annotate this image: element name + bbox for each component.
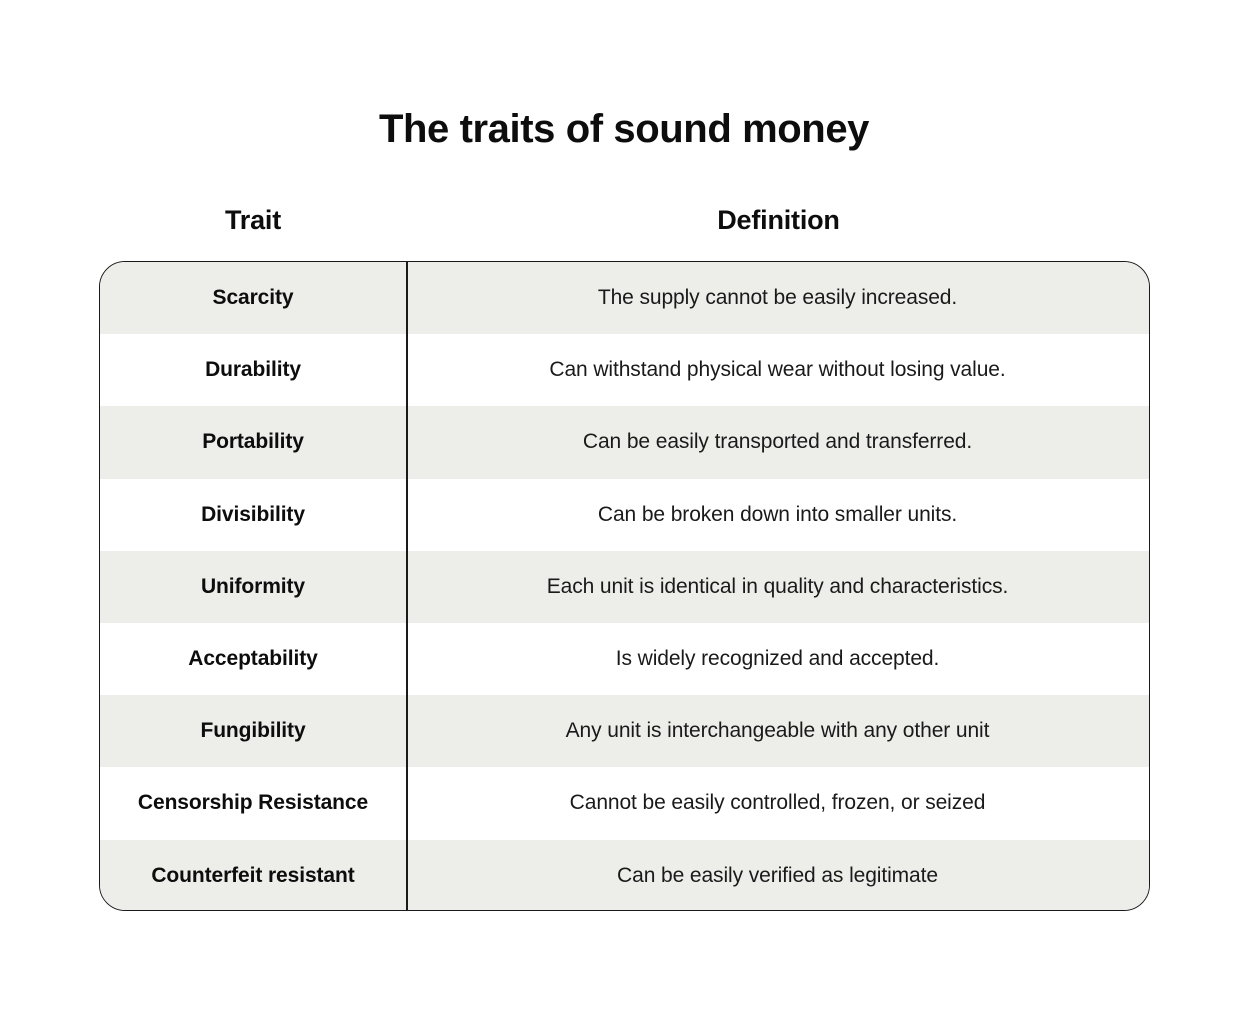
traits-table: ScarcityThe supply cannot be easily incr… (99, 261, 1150, 911)
cell-definition: Cannot be easily controlled, frozen, or … (406, 767, 1149, 839)
cell-trait: Scarcity (100, 262, 406, 334)
column-header-trait: Trait (99, 198, 407, 242)
cell-definition: Each unit is identical in quality and ch… (406, 551, 1149, 623)
table-row: PortabilityCan be easily transported and… (100, 406, 1149, 478)
table-body: ScarcityThe supply cannot be easily incr… (100, 262, 1149, 910)
cell-trait: Uniformity (100, 551, 406, 623)
cell-trait: Censorship Resistance (100, 767, 406, 839)
cell-trait: Fungibility (100, 695, 406, 767)
cell-definition: Any unit is interchangeable with any oth… (406, 695, 1149, 767)
cell-definition: Can be easily transported and transferre… (406, 406, 1149, 478)
page-root: The traits of sound money Trait Definiti… (0, 0, 1248, 1012)
cell-trait: Acceptability (100, 623, 406, 695)
cell-definition: Can be broken down into smaller units. (406, 479, 1149, 551)
table-row: UniformityEach unit is identical in qual… (100, 551, 1149, 623)
cell-trait: Counterfeit resistant (100, 840, 406, 912)
column-headers: Trait Definition (99, 198, 1150, 242)
table-row: DurabilityCan withstand physical wear wi… (100, 334, 1149, 406)
table-row: ScarcityThe supply cannot be easily incr… (100, 262, 1149, 334)
table-row: Censorship ResistanceCannot be easily co… (100, 767, 1149, 839)
column-divider (406, 262, 408, 910)
table-row: FungibilityAny unit is interchangeable w… (100, 695, 1149, 767)
cell-trait: Divisibility (100, 479, 406, 551)
table-row: Counterfeit resistantCan be easily verif… (100, 840, 1149, 912)
page-title: The traits of sound money (0, 100, 1248, 158)
table-row: DivisibilityCan be broken down into smal… (100, 479, 1149, 551)
cell-definition: Can withstand physical wear without losi… (406, 334, 1149, 406)
cell-trait: Durability (100, 334, 406, 406)
column-header-definition: Definition (407, 198, 1150, 242)
cell-trait: Portability (100, 406, 406, 478)
table-row: AcceptabilityIs widely recognized and ac… (100, 623, 1149, 695)
cell-definition: The supply cannot be easily increased. (406, 262, 1149, 334)
table-rows: ScarcityThe supply cannot be easily incr… (100, 262, 1149, 911)
cell-definition: Is widely recognized and accepted. (406, 623, 1149, 695)
cell-definition: Can be easily verified as legitimate (406, 840, 1149, 912)
